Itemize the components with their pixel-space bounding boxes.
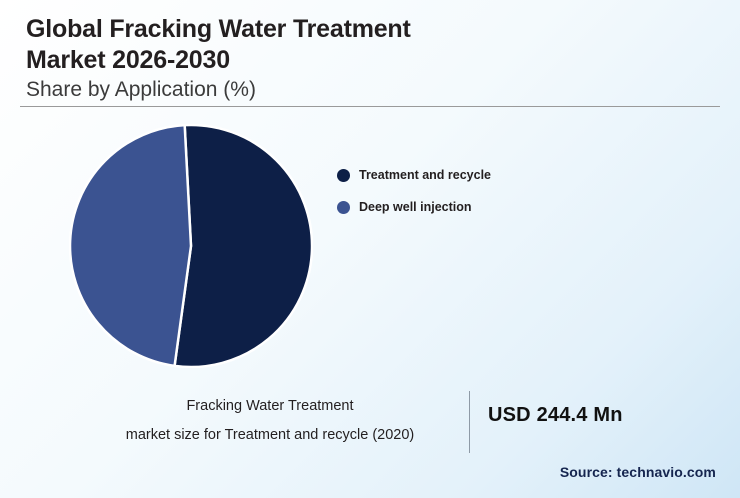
page-title: Global Fracking Water Treatment Market 2…	[26, 14, 586, 75]
footer-divider	[469, 391, 470, 453]
page-title-line2: Market 2026-2030	[26, 46, 230, 74]
page-title-line1: Global Fracking Water Treatment	[26, 15, 411, 43]
page-subtitle: Share by Application (%)	[26, 77, 706, 102]
pie-slice[interactable]	[70, 125, 191, 366]
title-block: Global Fracking Water Treatment Market 2…	[26, 14, 706, 102]
legend-swatch-icon	[337, 169, 350, 182]
legend-swatch-icon	[337, 201, 350, 214]
footer-caption-line1: Fracking Water Treatment	[80, 392, 460, 421]
infographic-page: Global Fracking Water Treatment Market 2…	[0, 0, 740, 498]
pie-slice[interactable]	[175, 125, 312, 367]
pie-chart-svg	[69, 124, 313, 368]
footer-caption: Fracking Water Treatment market size for…	[80, 392, 460, 450]
market-size-value: USD 244.4 Mn	[488, 404, 623, 427]
pie-chart	[69, 124, 313, 368]
legend-label: Deep well injection	[359, 200, 472, 214]
footer-callout: Fracking Water Treatment market size for…	[80, 392, 700, 454]
footer-caption-line2: market size for Treatment and recycle (2…	[80, 421, 460, 450]
source-label: Source: technavio.com	[560, 464, 716, 480]
header-divider	[20, 106, 720, 107]
chart-legend: Treatment and recycle Deep well injectio…	[337, 168, 637, 232]
legend-label: Treatment and recycle	[359, 168, 491, 182]
legend-item-deep-well-injection[interactable]: Deep well injection	[337, 200, 637, 214]
legend-item-treatment-and-recycle[interactable]: Treatment and recycle	[337, 168, 637, 182]
